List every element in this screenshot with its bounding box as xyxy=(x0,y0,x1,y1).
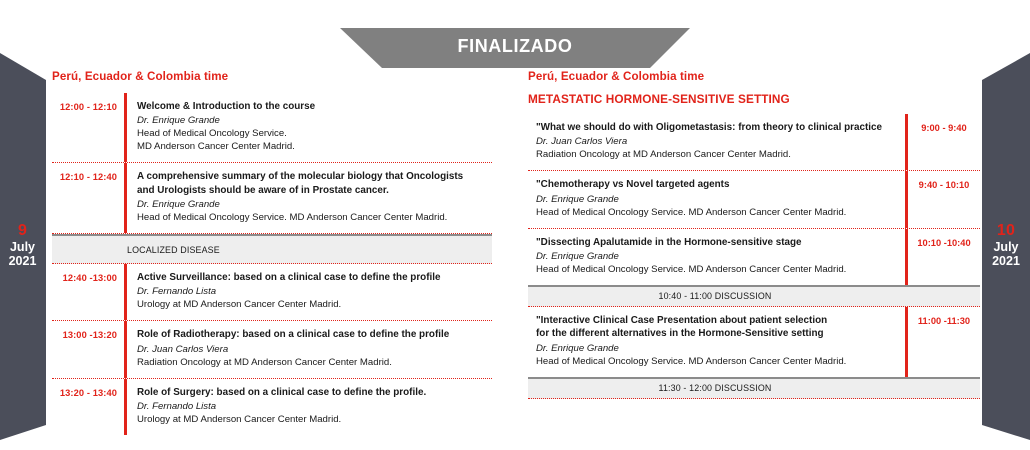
session-title: for the different alternatives in the Ho… xyxy=(536,327,895,340)
section-band-label: LOCALIZED DISEASE xyxy=(127,245,220,255)
session-title: Active Surveillance: based on a clinical… xyxy=(137,271,492,284)
session-details: Role of Radiotherapy: based on a clinica… xyxy=(127,321,492,377)
session-time: 13:00 -13:20 xyxy=(52,321,124,340)
session-affiliation: Head of Medical Oncology Service. MD And… xyxy=(137,211,492,224)
session-title: A comprehensive summary of the molecular… xyxy=(137,170,492,183)
discussion-band-label: 11:30 - 12:00 DISCUSSION xyxy=(528,383,980,393)
session-affiliation: Head of Medical Oncology Service. MD And… xyxy=(536,355,895,368)
session-affiliation: Head of Medical Oncology Service. xyxy=(137,127,492,140)
session-affiliation: Urology at MD Anderson Cancer Center Mad… xyxy=(137,413,492,426)
session-speaker: Dr. Juan Carlos Viera xyxy=(137,343,492,356)
session-affiliation: Head of Medical Oncology Service. MD And… xyxy=(536,263,895,276)
session-affiliation: Radiation Oncology at MD Anderson Cancer… xyxy=(137,356,492,369)
session-title: Role of Radiotherapy: based on a clinica… xyxy=(137,328,492,341)
session-title: "Dissecting Apalutamide in the Hormone-s… xyxy=(536,236,895,249)
timezone-heading-right: Perú, Ecuador & Colombia time xyxy=(528,70,980,83)
session-details: Welcome & Introduction to the course Dr.… xyxy=(127,93,492,162)
agenda-row[interactable]: 12:40 -13:00 Active Surveillance: based … xyxy=(52,264,492,321)
status-banner: FINALIZADO xyxy=(340,28,690,68)
agenda-row[interactable]: "Interactive Clinical Case Presentation … xyxy=(528,307,980,377)
agenda-row[interactable]: 13:00 -13:20 Role of Radiotherapy: based… xyxy=(52,321,492,378)
session-title: "Chemotherapy vs Novel targeted agents xyxy=(536,178,895,191)
session-time: 12:00 - 12:10 xyxy=(52,93,124,112)
agenda-column-day10: Perú, Ecuador & Colombia time METASTATIC… xyxy=(528,70,980,399)
session-speaker: Dr. Enrique Grande xyxy=(536,342,895,355)
session-affiliation: MD Anderson Cancer Center Madrid. xyxy=(137,140,492,153)
session-speaker: Dr. Fernando Lista xyxy=(137,285,492,298)
agenda-row[interactable]: 13:20 - 13:40 Role of Surgery: based on … xyxy=(52,379,492,435)
date-tab-left-month: July xyxy=(0,240,45,254)
session-speaker: Dr. Enrique Grande xyxy=(137,198,492,211)
date-tab-left-year: 2021 xyxy=(0,254,45,268)
agenda-column-day9: Perú, Ecuador & Colombia time 12:00 - 12… xyxy=(52,70,492,435)
discussion-band: 11:30 - 12:00 DISCUSSION xyxy=(528,377,980,399)
session-time: 13:20 - 13:40 xyxy=(52,379,124,398)
session-time: 9:40 - 10:10 xyxy=(908,171,980,227)
date-tab-right-text: 10 July 2021 xyxy=(983,222,1029,268)
agenda-row[interactable]: 12:00 - 12:10 Welcome & Introduction to … xyxy=(52,93,492,163)
agenda-page: 9 July 2021 10 July 2021 FINALIZADO Perú… xyxy=(0,0,1030,450)
session-details: "Interactive Clinical Case Presentation … xyxy=(528,307,905,377)
session-title: Role of Surgery: based on a clinical cas… xyxy=(137,386,492,399)
session-speaker: Dr. Enrique Grande xyxy=(137,114,492,127)
session-speaker: Dr. Fernando Lista xyxy=(137,400,492,413)
agenda-row[interactable]: "Chemotherapy vs Novel targeted agents D… xyxy=(528,171,980,228)
timezone-heading-left: Perú, Ecuador & Colombia time xyxy=(52,70,492,83)
date-tab-left: 9 July 2021 xyxy=(0,0,60,450)
agenda-row[interactable]: 12:10 - 12:40 A comprehensive summary of… xyxy=(52,163,492,234)
discussion-band: 10:40 - 11:00 DISCUSSION xyxy=(528,285,980,307)
discussion-band-label: 10:40 - 11:00 DISCUSSION xyxy=(528,291,980,301)
session-affiliation: Urology at MD Anderson Cancer Center Mad… xyxy=(137,298,492,311)
session-time: 9:00 - 9:40 xyxy=(908,114,980,170)
session-title: "Interactive Clinical Case Presentation … xyxy=(536,314,895,327)
date-tab-right-day: 10 xyxy=(983,222,1029,240)
session-title: Welcome & Introduction to the course xyxy=(137,100,492,113)
session-details: "Chemotherapy vs Novel targeted agents D… xyxy=(528,171,905,227)
session-title: and Urologists should be aware of in Pro… xyxy=(137,184,492,197)
session-time: 12:10 - 12:40 xyxy=(52,163,124,182)
session-affiliation: Head of Medical Oncology Service. MD And… xyxy=(536,206,895,219)
date-tab-left-day: 9 xyxy=(0,222,45,240)
session-title: "What we should do with Oligometastasis:… xyxy=(536,121,895,134)
session-details: A comprehensive summary of the molecular… xyxy=(127,163,492,233)
session-time: 12:40 -13:00 xyxy=(52,264,124,283)
session-speaker: Dr. Enrique Grande xyxy=(536,193,895,206)
session-speaker: Dr. Enrique Grande xyxy=(536,250,895,263)
status-banner-label: FINALIZADO xyxy=(340,36,690,57)
session-time: 10:10 -10:40 xyxy=(908,229,980,285)
agenda-row[interactable]: "What we should do with Oligometastasis:… xyxy=(528,114,980,171)
session-details: "What we should do with Oligometastasis:… xyxy=(528,114,905,170)
agenda-row[interactable]: "Dissecting Apalutamide in the Hormone-s… xyxy=(528,229,980,285)
session-affiliation: Radiation Oncology at MD Anderson Cancer… xyxy=(536,148,895,161)
date-tab-right-year: 2021 xyxy=(983,254,1029,268)
date-tab-right-month: July xyxy=(983,240,1029,254)
session-time: 11:00 -11:30 xyxy=(908,307,980,377)
session-details: Role of Surgery: based on a clinical cas… xyxy=(127,379,492,435)
session-speaker: Dr. Juan Carlos Viera xyxy=(536,135,895,148)
date-tab-left-text: 9 July 2021 xyxy=(0,222,45,268)
section-heading-metastatic: METASTATIC HORMONE-SENSITIVE SETTING xyxy=(528,92,980,106)
session-details: Active Surveillance: based on a clinical… xyxy=(127,264,492,320)
section-band-localized-disease: LOCALIZED DISEASE xyxy=(52,234,492,264)
session-details: "Dissecting Apalutamide in the Hormone-s… xyxy=(528,229,905,285)
